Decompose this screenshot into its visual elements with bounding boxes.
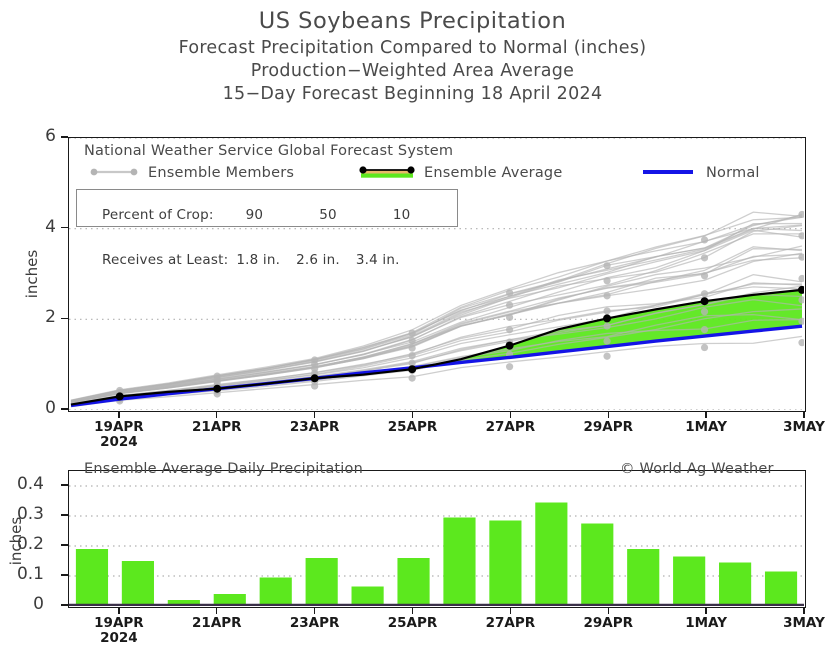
top-y-tick-6: 6 (16, 126, 56, 146)
top-y-tickmark (61, 227, 68, 229)
x-tick-3MAY: 3MAY (769, 419, 825, 435)
bar (443, 518, 475, 607)
bottom-y-tick-0.1: 0.1 (4, 564, 44, 584)
top-y-tickmark (61, 136, 68, 138)
x-tick-25APR: 25APR (378, 419, 448, 435)
percent-col-1: 90 (246, 207, 264, 223)
x-tickmark (510, 412, 511, 418)
x-tickmark (803, 608, 804, 614)
ensemble-average-swatch (356, 164, 418, 180)
bottom-panel-subtitle: Ensemble Average Daily Precipitation (84, 461, 363, 477)
bottom-y-tick-0.2: 0.2 (4, 534, 44, 554)
subtitle-line-1: Forecast Precipitation Compared to Norma… (0, 38, 825, 58)
bar (673, 557, 705, 607)
legend-label-normal: Normal (706, 165, 760, 181)
x-tickmark (314, 412, 315, 418)
percent-of-crop-box: Percent of Crop:905010 Receives at Least… (76, 189, 458, 227)
bottom-y-tickmark (61, 484, 68, 486)
bar (397, 558, 429, 606)
bar (627, 549, 659, 606)
x-tickmark (705, 608, 706, 614)
x-tickmark (216, 608, 217, 614)
x-tick-year: 2024 (84, 630, 154, 646)
percent-of-crop-row: Percent of Crop:905010 (84, 193, 450, 238)
x-tick-3MAY: 3MAY (769, 615, 825, 631)
x-tickmark (314, 608, 315, 614)
x-tickmark (705, 412, 706, 418)
x-tickmark (118, 412, 119, 418)
bar (719, 563, 751, 607)
x-tickmark (608, 608, 609, 614)
percent-col-3: 10 (393, 207, 411, 223)
bar (581, 524, 613, 607)
ensemble-members-swatch (88, 164, 140, 180)
bottom-y-tick-0: 0 (4, 594, 44, 614)
x-tickmark (510, 608, 511, 614)
x-tick-19APR: 19APR (84, 419, 154, 435)
legend-label-ensemble-average: Ensemble Average (424, 165, 562, 181)
x-tick-1MAY: 1MAY (671, 615, 741, 631)
amount-col-2: 2.6 in. (296, 252, 340, 268)
bar (352, 587, 384, 607)
x-tickmark (803, 412, 804, 418)
bottom-panel-plot (69, 471, 804, 606)
percent-col-2: 50 (319, 207, 337, 223)
subtitle-line-2: Production−Weighted Area Average (0, 61, 825, 81)
page-title: US Soybeans Precipitation (0, 8, 825, 34)
legend-title: National Weather Service Global Forecast… (84, 143, 453, 159)
x-tick-29APR: 29APR (573, 419, 643, 435)
top-y-tickmark (61, 408, 68, 410)
bar (260, 578, 292, 607)
daily-precip-chart (68, 470, 806, 608)
x-tickmark (608, 412, 609, 418)
x-tick-19APR: 19APR (84, 615, 154, 631)
bottom-y-tickmark (61, 544, 68, 546)
x-tick-21APR: 21APR (182, 419, 252, 435)
x-tick-21APR: 21APR (182, 615, 252, 631)
x-tickmark (216, 412, 217, 418)
subtitle-line-3: 15−Day Forecast Beginning 18 April 2024 (0, 84, 825, 104)
bar (76, 549, 108, 606)
bar (765, 572, 797, 607)
x-tick-25APR: 25APR (378, 615, 448, 631)
bottom-y-tickmark (61, 604, 68, 606)
x-tick-27APR: 27APR (475, 419, 545, 435)
percent-of-crop-label: Percent of Crop: (102, 207, 214, 223)
x-tick-year: 2024 (84, 434, 154, 450)
x-tick-23APR: 23APR (280, 615, 350, 631)
bar (306, 558, 338, 606)
amount-col-3: 3.4 in. (356, 252, 400, 268)
x-tick-29APR: 29APR (573, 615, 643, 631)
bottom-y-tick-0.3: 0.3 (4, 504, 44, 524)
bottom-y-tick-0.4: 0.4 (4, 474, 44, 494)
bar (535, 503, 567, 607)
top-panel-y-axis-label: inches (23, 234, 41, 314)
x-tickmark (412, 608, 413, 614)
bar (489, 521, 521, 607)
bar (122, 561, 154, 606)
copyright-label: © World Ag Weather (620, 461, 774, 477)
x-tick-23APR: 23APR (280, 419, 350, 435)
top-y-tick-4: 4 (16, 217, 56, 237)
receives-at-least-row: Receives at Least:1.8 in.2.6 in.3.4 in. (84, 238, 450, 283)
top-y-tickmark (61, 318, 68, 320)
amount-col-1: 1.8 in. (236, 252, 280, 268)
top-y-tick-2: 2 (16, 307, 56, 327)
bottom-y-tickmark (61, 514, 68, 516)
x-tick-27APR: 27APR (475, 615, 545, 631)
top-y-tick-0: 0 (16, 398, 56, 418)
receives-at-least-label: Receives at Least: (102, 252, 228, 268)
bottom-y-tickmark (61, 574, 68, 576)
x-tick-1MAY: 1MAY (671, 419, 741, 435)
chart-title-block: US Soybeans Precipitation Forecast Preci… (0, 0, 825, 104)
legend-label-ensemble-members: Ensemble Members (148, 165, 294, 181)
x-tickmark (118, 608, 119, 614)
normal-swatch (640, 164, 696, 180)
x-tickmark (412, 412, 413, 418)
